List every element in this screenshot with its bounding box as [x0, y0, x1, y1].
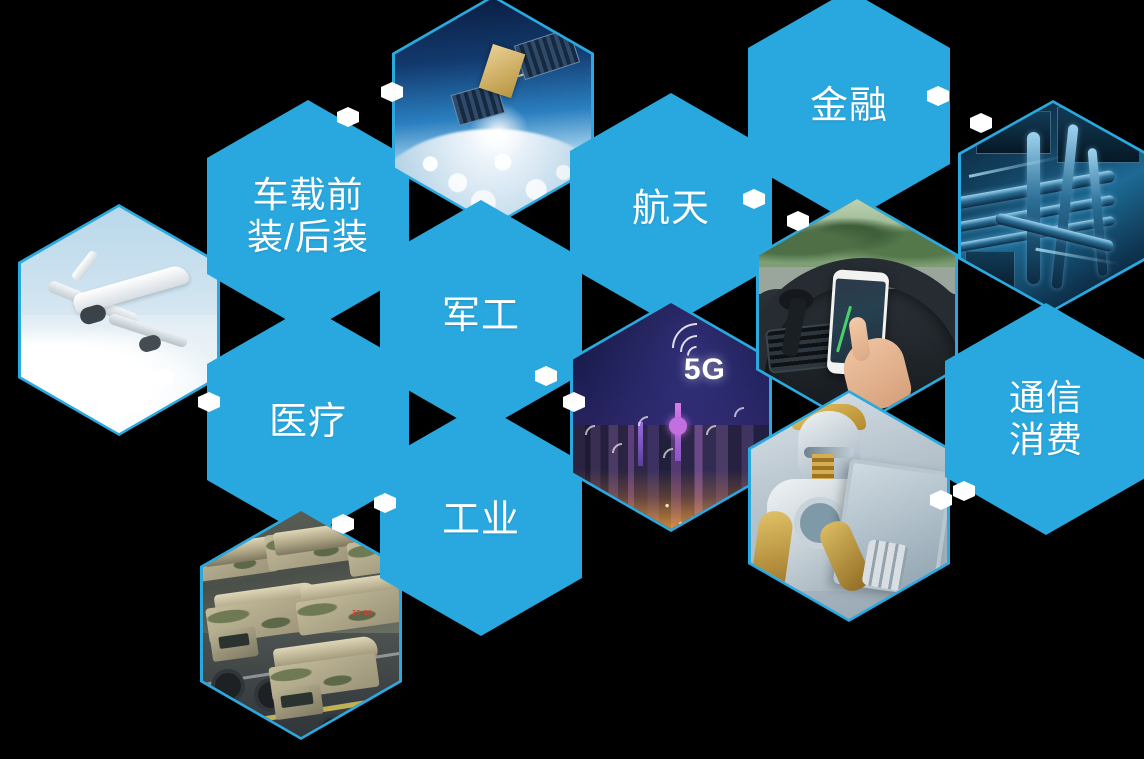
tile-car-navigation-photo[interactable]: [756, 196, 958, 428]
5g-badge-label: 5G: [684, 353, 726, 387]
tile-label: 航天: [632, 187, 710, 232]
tile-missile-vehicles-photo[interactable]: 25-08: [200, 508, 402, 740]
tile-5g-city-photo[interactable]: 5G: [570, 300, 772, 532]
tile-label: 金融: [810, 84, 888, 129]
tile-aviation-photo[interactable]: [18, 204, 220, 436]
satellite-over-earth-photo: [395, 0, 591, 224]
robot-with-tablet-photo: [751, 393, 947, 619]
tile-label: 军工: [442, 294, 520, 339]
5g-city-night-photo: 5G: [573, 303, 769, 529]
industrial-pipes-photo: [961, 103, 1144, 309]
tile-military[interactable]: 军工: [380, 200, 582, 432]
car-phone-navigation-photo: [759, 199, 955, 425]
airplane-in-sky-photo: [21, 207, 217, 433]
tile-label: 通信 消费: [1009, 377, 1083, 462]
tile-industry[interactable]: 工业: [380, 404, 582, 636]
tile-industrial-pipes-photo[interactable]: [958, 100, 1144, 312]
accent-hex-dot: [970, 113, 992, 133]
tile-finance[interactable]: 金融: [748, 0, 950, 222]
tile-aerospace[interactable]: 航天: [570, 93, 772, 325]
military-missile-vehicles-photo: 25-08: [203, 511, 399, 737]
tile-label: 车载前 装/后装: [247, 174, 369, 259]
hexagon-infographic-canvas: 车载前 装/后装 医疗: [0, 0, 1144, 759]
vehicle-marking: 25-08: [352, 610, 372, 617]
tile-telecom-consumer[interactable]: 通信 消费: [945, 303, 1144, 535]
tile-automotive[interactable]: 车载前 装/后装: [207, 100, 409, 332]
tile-satellite-photo[interactable]: [392, 0, 594, 227]
tile-label: 医疗: [269, 400, 347, 445]
tile-robot-photo[interactable]: [748, 390, 950, 622]
tile-label: 工业: [442, 498, 520, 543]
